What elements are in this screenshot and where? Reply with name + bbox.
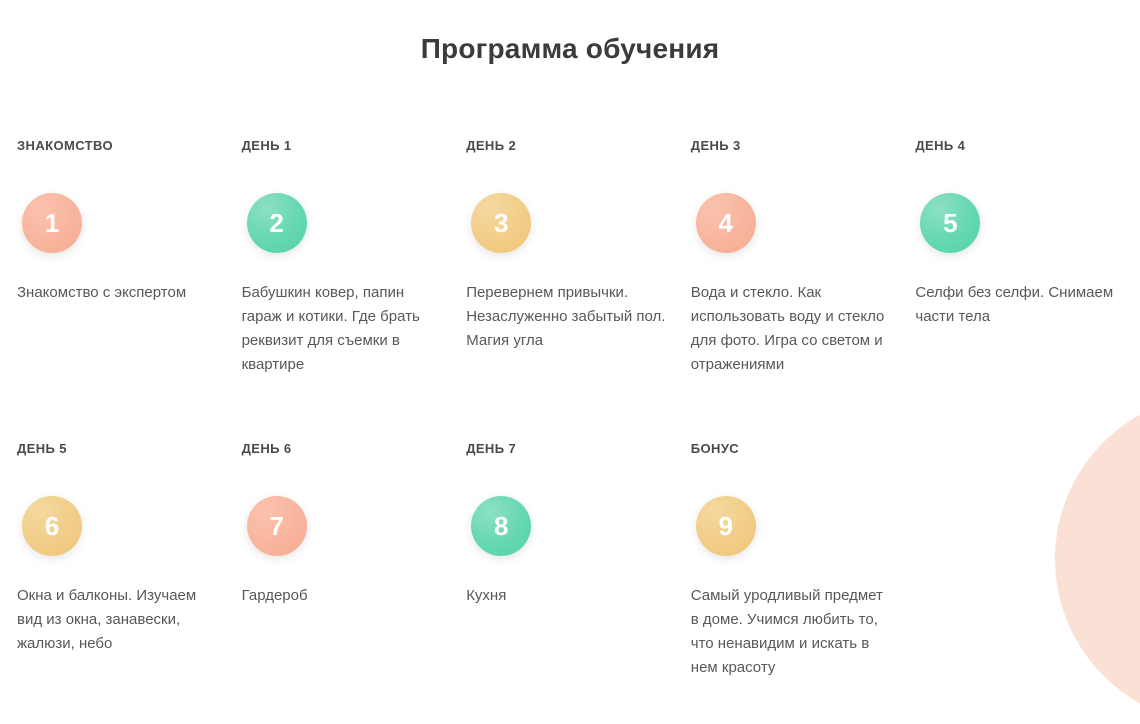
- program-item-number-badge: 6: [22, 496, 82, 556]
- program-item-description: Самый уродливый предмет в доме. Учимся л…: [691, 584, 891, 680]
- program-item-number-badge: 3: [471, 193, 531, 253]
- program-item-label: ДЕНЬ 3: [691, 138, 891, 154]
- program-item-number-badge: 8: [471, 496, 531, 556]
- program-item-label: ЗНАКОМСТВО: [17, 138, 217, 154]
- program-item-3: ДЕНЬ 2 3 Перевернем привычки. Незаслужен…: [466, 138, 691, 353]
- program-item-description: Знакомство с экспертом: [17, 281, 217, 305]
- program-item-number-badge: 9: [696, 496, 756, 556]
- program-item-description: Селфи без селфи. Снимаем части тела: [915, 281, 1115, 329]
- program-item-label: ДЕНЬ 4: [915, 138, 1115, 154]
- program-item-description: Гардероб: [242, 584, 442, 608]
- program-item-description: Бабушкин ковер, папин гараж и котики. Гд…: [242, 281, 442, 377]
- program-item-1: ЗНАКОМСТВО 1 Знакомство с экспертом: [17, 138, 242, 305]
- program-item-number-badge: 7: [247, 496, 307, 556]
- program-row: ДЕНЬ 5 6 Окна и балконы. Изучаем вид из …: [17, 441, 1140, 680]
- program-item-label: ДЕНЬ 6: [242, 441, 442, 457]
- program-item-2: ДЕНЬ 1 2 Бабушкин ковер, папин гараж и к…: [242, 138, 467, 377]
- program-item-number-badge: 1: [22, 193, 82, 253]
- program-item-label: ДЕНЬ 2: [466, 138, 666, 154]
- program-item-6: ДЕНЬ 5 6 Окна и балконы. Изучаем вид из …: [17, 441, 242, 656]
- page-title: Программа обучения: [0, 33, 1140, 65]
- program-item-label: БОНУС: [691, 441, 891, 457]
- program-item-number-badge: 2: [247, 193, 307, 253]
- program-item-9: БОНУС 9 Самый уродливый предмет в доме. …: [691, 441, 916, 680]
- program-item-8: ДЕНЬ 7 8 Кухня: [466, 441, 691, 608]
- program-item-5: ДЕНЬ 4 5 Селфи без селфи. Снимаем части …: [915, 138, 1140, 329]
- program-item-label: ДЕНЬ 5: [17, 441, 217, 457]
- program-item-description: Перевернем привычки. Незаслуженно забыты…: [466, 281, 666, 353]
- program-item-description: Окна и балконы. Изучаем вид из окна, зан…: [17, 584, 217, 656]
- program-item-7: ДЕНЬ 6 7 Гардероб: [242, 441, 467, 608]
- program-grid: ЗНАКОМСТВО 1 Знакомство с экспертом ДЕНЬ…: [17, 138, 1140, 680]
- program-row: ЗНАКОМСТВО 1 Знакомство с экспертом ДЕНЬ…: [17, 138, 1140, 377]
- program-item-description: Кухня: [466, 584, 666, 608]
- program-item-description: Вода и стекло. Как использовать воду и с…: [691, 281, 891, 377]
- program-item-label: ДЕНЬ 7: [466, 441, 666, 457]
- program-item-4: ДЕНЬ 3 4 Вода и стекло. Как использовать…: [691, 138, 916, 377]
- program-item-number-badge: 5: [920, 193, 980, 253]
- program-item-label: ДЕНЬ 1: [242, 138, 442, 154]
- program-item-number-badge: 4: [696, 193, 756, 253]
